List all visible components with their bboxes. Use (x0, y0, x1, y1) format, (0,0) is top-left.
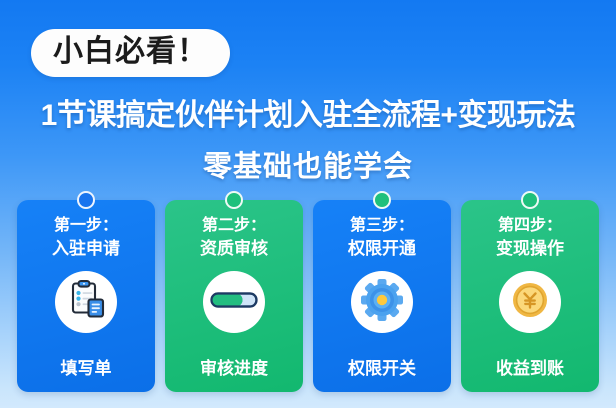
step-title-4: 变现操作 (496, 238, 564, 260)
step-label-2: 第二步： (202, 216, 266, 236)
step-card-2[interactable]: 第二步： 资质审核 审核进度 (165, 200, 303, 392)
promo-poster: 小白必看！ 1节课搞定伙伴计划入驻全流程+变现玩法 零基础也能学会 第一步： 入… (0, 0, 616, 408)
step-icon-container-2 (203, 271, 265, 333)
step-footer-2: 审核进度 (165, 354, 303, 379)
step-icon-container-1 (55, 271, 117, 333)
step-footer-4: 收益到账 (461, 354, 599, 379)
step-footer-1: 填写单 (17, 354, 155, 379)
headline-badge-text: 小白必看！ (53, 37, 208, 67)
step-title-1: 入驻申请 (52, 238, 120, 260)
step-marker-dot-1 (77, 191, 95, 209)
headline-line-2: 零基础也能学会 (0, 143, 616, 185)
yen-coin-icon (508, 278, 552, 327)
step-marker-dot-4 (521, 191, 539, 209)
step-label-1: 第一步： (54, 216, 118, 236)
step-marker-dot-3 (373, 191, 391, 209)
steps-card-row: 第一步： 入驻申请 (17, 200, 599, 392)
headline-line-1: 1节课搞定伙伴计划入驻全流程+变现玩法 (0, 90, 616, 134)
clipboard-checklist-icon (64, 278, 108, 327)
step-card-1[interactable]: 第一步： 入驻申请 (17, 200, 155, 392)
progress-bar-icon (209, 278, 259, 327)
gear-icon (359, 277, 405, 328)
step-title-2: 资质审核 (200, 238, 268, 260)
step-label-4: 第四步： (498, 216, 562, 236)
step-footer-3: 权限开关 (313, 354, 451, 379)
step-marker-dot-2 (225, 191, 243, 209)
step-label-3: 第三步： (350, 216, 414, 236)
headline-badge: 小白必看！ (31, 29, 230, 77)
step-title-3: 权限开通 (348, 238, 416, 260)
step-icon-container-4 (499, 271, 561, 333)
step-card-3[interactable]: 第三步： 权限开通 (313, 200, 451, 392)
step-card-4[interactable]: 第四步： 变现操作 (461, 200, 599, 392)
step-icon-container-3 (351, 271, 413, 333)
